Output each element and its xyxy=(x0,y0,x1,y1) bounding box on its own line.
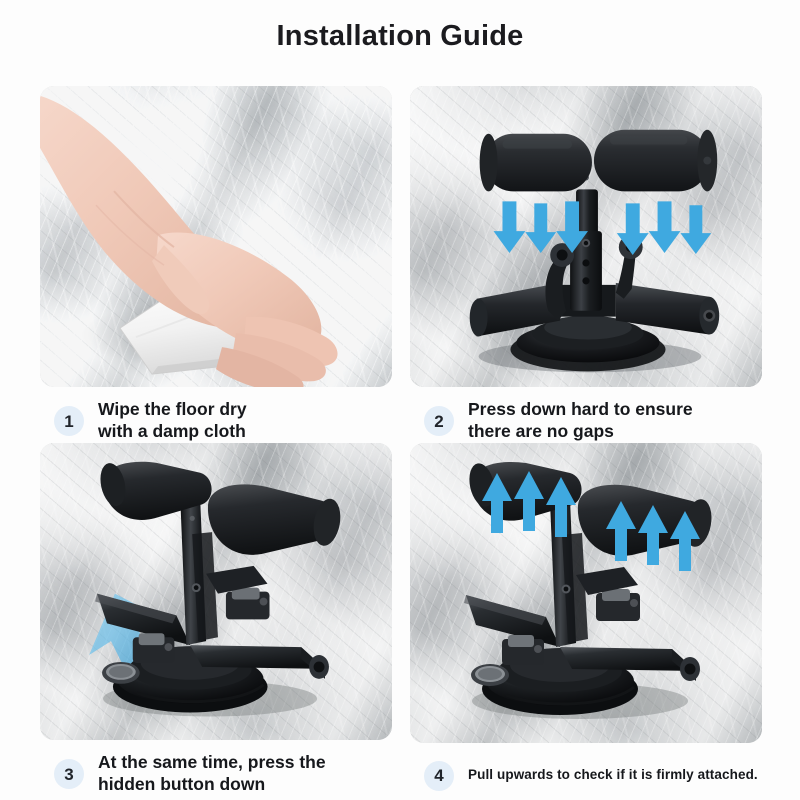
step-badge-1: 1 xyxy=(54,406,84,436)
situp-bar-illustration xyxy=(410,86,762,387)
installation-steps-grid: 1 Wipe the floor dry with a damp cloth xyxy=(40,86,762,786)
situp-bar-illustration-angled xyxy=(40,443,392,740)
step-1-photo xyxy=(40,86,392,387)
step-4-caption-row: 4 Pull upwards to check if it is firmly … xyxy=(410,743,762,796)
page-title: Installation Guide xyxy=(0,20,800,53)
step-3-photo xyxy=(40,443,392,740)
step-caption-3: At the same time, press the hidden butto… xyxy=(98,752,326,796)
situp-bar-device-front xyxy=(410,86,762,387)
step-3-caption-row: 3 At the same time, press the hidden but… xyxy=(40,740,392,796)
step-caption-2: Press down hard to ensure there are no g… xyxy=(468,399,693,443)
step-caption-1: Wipe the floor dry with a damp cloth xyxy=(98,399,247,443)
step-2-photo xyxy=(410,86,762,387)
step-caption-4: Pull upwards to check if it is firmly at… xyxy=(468,767,758,784)
step-badge-3: 3 xyxy=(54,759,84,789)
step-badge-4: 4 xyxy=(424,761,454,791)
situp-bar-device-angled-button xyxy=(40,443,392,740)
step-card-3: 3 At the same time, press the hidden but… xyxy=(40,443,392,796)
hand-wiping-illustration xyxy=(40,86,392,387)
situp-bar-device-angled-pull xyxy=(410,443,762,743)
step-badge-2: 2 xyxy=(424,406,454,436)
situp-bar-illustration-pull xyxy=(410,443,762,743)
step-4-photo xyxy=(410,443,762,743)
step-2-caption-row: 2 Press down hard to ensure there are no… xyxy=(410,387,762,443)
hand-icon xyxy=(40,86,392,387)
step-card-2: 2 Press down hard to ensure there are no… xyxy=(410,86,762,443)
arrow-down-group-left xyxy=(494,201,588,253)
arrow-down-group-right xyxy=(617,201,711,255)
step-1-caption-row: 1 Wipe the floor dry with a damp cloth xyxy=(40,387,392,443)
arrow-up-group-left xyxy=(482,471,576,537)
step-card-4: 4 Pull upwards to check if it is firmly … xyxy=(410,443,762,796)
step-card-1: 1 Wipe the floor dry with a damp cloth xyxy=(40,86,392,443)
